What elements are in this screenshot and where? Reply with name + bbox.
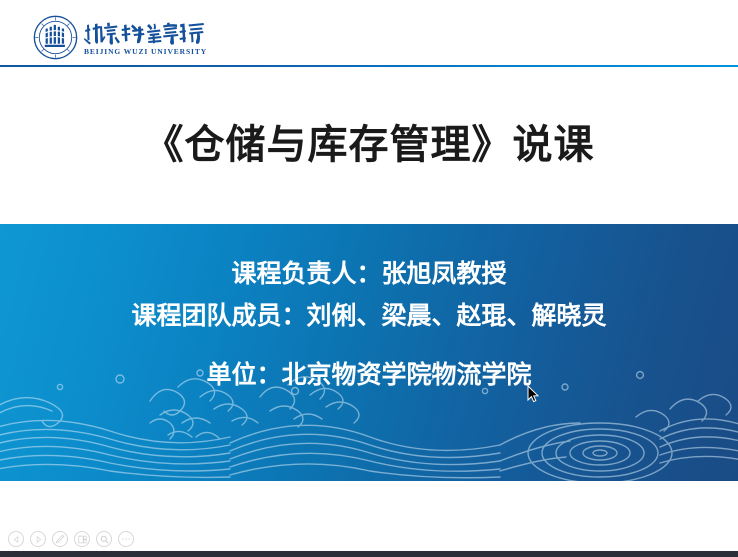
pen-annotate-button[interactable] xyxy=(52,531,68,547)
zoom-button[interactable] xyxy=(96,531,112,547)
window-bottom-bar xyxy=(0,551,738,557)
next-slide-button[interactable] xyxy=(30,531,46,547)
university-logo-text: BEIJING WUZI UNIVERSITY xyxy=(84,20,207,56)
university-seal-icon xyxy=(33,15,78,60)
slide-canvas[interactable]: BEIJING WUZI UNIVERSITY 《仓储与库存管理》说课 xyxy=(0,0,738,520)
page-title: 《仓储与库存管理》说课 xyxy=(0,112,738,170)
grid-slides-icon xyxy=(78,535,87,544)
header-divider xyxy=(0,65,738,67)
more-options-button[interactable] xyxy=(118,531,134,547)
triangle-left-icon xyxy=(13,536,20,543)
course-unit-line: 单位：北京物资学院物流学院 xyxy=(0,355,738,391)
course-leader-line: 课程负责人：张旭凤教授 xyxy=(0,254,738,290)
info-band: 课程负责人：张旭凤教授 课程团队成员：刘俐、梁晨、赵琨、解晓灵 单位：北京物资学… xyxy=(0,224,738,481)
magnifier-icon xyxy=(100,535,109,544)
triangle-right-icon xyxy=(35,536,42,543)
university-name-en: BEIJING WUZI UNIVERSITY xyxy=(84,47,207,56)
previous-slide-button[interactable] xyxy=(8,531,24,547)
ellipsis-icon xyxy=(121,537,131,541)
player-toolbar-buttons xyxy=(8,531,134,547)
slide-header: BEIJING WUZI UNIVERSITY xyxy=(0,0,738,67)
university-name-cn-icon xyxy=(84,20,206,46)
slide-overview-button[interactable] xyxy=(74,531,90,547)
university-logo: BEIJING WUZI UNIVERSITY xyxy=(33,15,207,60)
pen-icon xyxy=(55,534,65,544)
course-team-line: 课程团队成员：刘俐、梁晨、赵琨、解晓灵 xyxy=(0,296,738,332)
player-toolbar[interactable] xyxy=(0,520,738,551)
